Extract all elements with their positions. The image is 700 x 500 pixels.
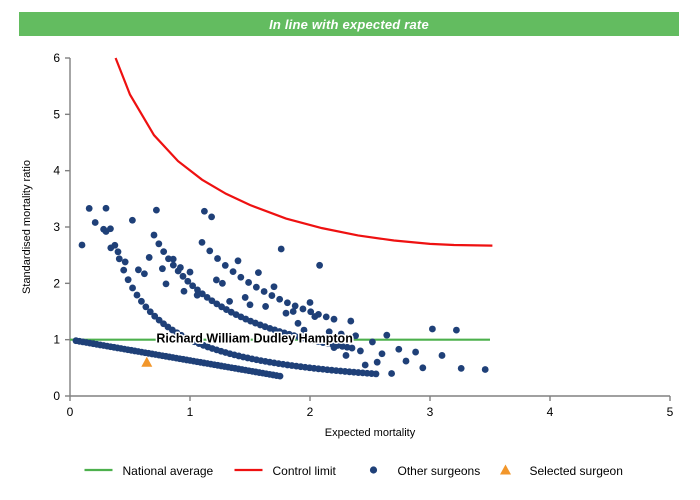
data-point bbox=[247, 301, 254, 308]
legend-item-other-surgeons[interactable]: Other surgeons bbox=[370, 464, 480, 478]
data-point bbox=[295, 320, 302, 327]
data-point bbox=[219, 280, 226, 287]
data-point bbox=[146, 254, 153, 261]
legend-label: National average bbox=[123, 464, 214, 478]
data-point bbox=[245, 279, 252, 286]
data-point bbox=[79, 242, 86, 249]
data-point bbox=[206, 247, 213, 254]
legend-layer: National averageControl limitOther surge… bbox=[85, 464, 623, 478]
data-point bbox=[439, 352, 446, 359]
data-point bbox=[429, 326, 436, 333]
data-point bbox=[159, 265, 166, 272]
legend-item-national-average[interactable]: National average bbox=[85, 464, 214, 478]
legend-label: Other surgeons bbox=[398, 464, 481, 478]
data-point bbox=[349, 345, 356, 352]
data-point bbox=[129, 217, 136, 224]
legend-item-control-limit[interactable]: Control limit bbox=[235, 464, 337, 478]
legend-label: Control limit bbox=[273, 464, 337, 478]
data-point bbox=[316, 262, 323, 269]
data-point bbox=[115, 248, 122, 255]
data-point bbox=[268, 292, 275, 299]
x-axis-tick-label: 3 bbox=[427, 405, 434, 419]
data-point bbox=[412, 349, 419, 356]
data-point bbox=[347, 318, 354, 325]
data-point bbox=[395, 346, 402, 353]
data-point bbox=[458, 365, 465, 372]
data-point bbox=[213, 277, 220, 284]
legend-label: Selected surgeon bbox=[530, 464, 623, 478]
x-axis-title: Expected mortality bbox=[325, 427, 416, 439]
data-point bbox=[388, 370, 395, 377]
data-point bbox=[120, 267, 127, 274]
x-axis-tick-label: 2 bbox=[307, 405, 314, 419]
data-point bbox=[103, 228, 110, 235]
x-axis-tick-label: 5 bbox=[667, 405, 674, 419]
data-point bbox=[383, 332, 390, 339]
data-point bbox=[141, 270, 148, 277]
data-point bbox=[201, 208, 208, 215]
series-other-surgeons bbox=[73, 205, 489, 380]
data-point bbox=[277, 373, 284, 380]
data-point bbox=[163, 280, 170, 287]
x-axis-tick-label: 0 bbox=[67, 405, 74, 419]
data-point bbox=[419, 364, 426, 371]
data-point bbox=[230, 268, 237, 275]
navy-dot-icon bbox=[370, 466, 377, 473]
data-point bbox=[343, 352, 350, 359]
data-point bbox=[373, 371, 380, 378]
data-point bbox=[278, 246, 285, 253]
y-axis-tick-label: 1 bbox=[53, 333, 60, 347]
data-point bbox=[453, 327, 460, 334]
data-point bbox=[155, 240, 162, 247]
data-point bbox=[255, 269, 262, 276]
data-point bbox=[208, 213, 215, 220]
funnel-plot-chart: 0123456012345Expected mortalityStandardi… bbox=[0, 0, 700, 500]
data-point bbox=[369, 339, 376, 346]
data-point bbox=[290, 308, 297, 315]
data-point bbox=[170, 262, 177, 269]
y-axis-tick-label: 3 bbox=[53, 220, 60, 234]
data-point bbox=[261, 288, 268, 295]
y-axis-tick-label: 0 bbox=[53, 389, 60, 403]
x-axis-tick-label: 1 bbox=[187, 405, 194, 419]
data-point bbox=[129, 285, 136, 292]
data-point bbox=[180, 273, 187, 280]
data-point bbox=[187, 269, 194, 276]
data-point bbox=[323, 313, 330, 320]
data-point bbox=[237, 274, 244, 281]
data-point bbox=[86, 205, 93, 212]
data-point bbox=[242, 294, 249, 301]
data-point bbox=[253, 284, 260, 291]
y-axis-tick-label: 5 bbox=[53, 107, 60, 121]
data-point bbox=[92, 219, 99, 226]
data-point bbox=[125, 276, 132, 283]
data-point bbox=[403, 358, 410, 365]
data-point bbox=[122, 259, 129, 266]
data-point bbox=[482, 366, 489, 373]
data-point bbox=[160, 248, 167, 255]
data-point bbox=[284, 299, 291, 306]
data-point bbox=[276, 296, 283, 303]
x-axis-tick-label: 4 bbox=[547, 405, 554, 419]
y-axis-tick-label: 6 bbox=[53, 51, 60, 65]
data-point bbox=[177, 264, 184, 271]
data-point bbox=[153, 207, 160, 214]
data-point bbox=[331, 316, 338, 323]
selected-surgeon-label: Richard William Dudley Hampton bbox=[156, 332, 352, 346]
data-point bbox=[135, 266, 142, 273]
data-point bbox=[214, 255, 221, 262]
data-point bbox=[226, 298, 233, 305]
y-axis-title: Standardised mortality ratio bbox=[21, 160, 33, 294]
data-point bbox=[138, 298, 145, 305]
annotation-layer: Richard William Dudley Hampton bbox=[156, 332, 352, 346]
data-point bbox=[271, 283, 278, 290]
data-point bbox=[379, 350, 386, 357]
data-point bbox=[194, 292, 201, 299]
data-point bbox=[357, 348, 364, 355]
data-point bbox=[311, 313, 318, 320]
data-point bbox=[151, 232, 158, 239]
selected-surgeon-marker[interactable] bbox=[141, 357, 152, 367]
data-point bbox=[181, 288, 188, 295]
axes-layer: 0123456012345Expected mortalityStandardi… bbox=[21, 51, 674, 439]
data-point bbox=[116, 255, 123, 262]
data-point bbox=[222, 262, 229, 269]
data-point bbox=[352, 332, 359, 339]
data-point bbox=[170, 256, 177, 263]
series-line-control-limit bbox=[116, 58, 493, 246]
data-point bbox=[134, 292, 141, 299]
data-point bbox=[374, 359, 381, 366]
legend-item-selected-surgeon[interactable]: Selected surgeon bbox=[500, 464, 623, 478]
y-axis-tick-label: 2 bbox=[53, 276, 60, 290]
series-selected-surgeon bbox=[141, 357, 152, 367]
data-point bbox=[199, 239, 206, 246]
data-point bbox=[103, 205, 110, 212]
data-point bbox=[362, 362, 369, 369]
data-point bbox=[262, 303, 269, 310]
y-axis-tick-label: 4 bbox=[53, 164, 60, 178]
data-point bbox=[235, 257, 242, 264]
data-point bbox=[307, 299, 314, 306]
data-point bbox=[107, 244, 114, 251]
orange-triangle-icon bbox=[500, 465, 511, 475]
data-point bbox=[300, 306, 307, 313]
chart-canvas: 0123456012345Expected mortalityStandardi… bbox=[0, 0, 700, 500]
data-point bbox=[283, 310, 290, 317]
